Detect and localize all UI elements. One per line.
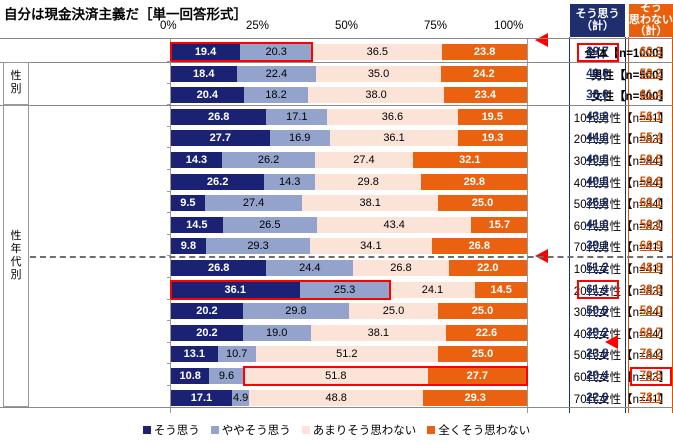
- bar-segment-2: 27.4: [205, 195, 303, 211]
- group-label-char: 別: [11, 269, 22, 282]
- row-tick: [167, 191, 171, 192]
- stacked-bar: 17.14.948.829.3: [171, 390, 527, 406]
- stacked-bar: 26.817.136.619.5: [171, 109, 527, 125]
- stacked-bar: 20.229.825.025.0: [171, 303, 527, 319]
- bar-segment-4: 22.6: [446, 325, 526, 341]
- agree-total-value: 40.8: [570, 66, 625, 82]
- bar-segment-2: 22.4: [237, 66, 317, 82]
- bar-segment-3: 38.1: [302, 195, 438, 211]
- row-tick: [167, 83, 171, 84]
- chart-row: 40代男性【n=84】26.214.329.829.840.559.6: [0, 174, 673, 190]
- bar-segment-3: 43.4: [317, 217, 472, 233]
- bar-segment-4: 26.8: [432, 238, 527, 254]
- row-tick: [167, 342, 171, 343]
- agree-total-value: 39.7: [570, 44, 625, 60]
- agree-total-value: 22.0: [570, 390, 625, 406]
- bar-segment-1: 19.4: [171, 44, 240, 60]
- stacked-bar: 18.422.435.024.2: [171, 66, 527, 82]
- page-title: 自分は現金決済主義だ［単一回答形式］: [4, 3, 247, 23]
- bar-segment-4: 32.1: [413, 152, 527, 168]
- row-separator: [0, 62, 673, 63]
- row-tick: [167, 320, 171, 321]
- disagree-total-value: 59.5: [629, 152, 673, 168]
- bar-segment-3: 36.5: [312, 44, 442, 60]
- bar-segment-2: 29.3: [206, 238, 310, 254]
- bar-segment-2: 17.1: [266, 109, 327, 125]
- bar-segment-4: 25.0: [438, 346, 527, 362]
- disagree-total-value: 60.3: [629, 44, 673, 60]
- agree-total-value: 20.4: [570, 368, 625, 384]
- chart-row: 70代女性【n=41】17.14.948.829.322.078.1: [0, 390, 673, 406]
- bar-segment-2: 24.4: [266, 260, 353, 276]
- chart-row: 全体【n=1000】19.420.336.523.839.760.3: [0, 44, 673, 60]
- agree-total-value: 36.9: [570, 195, 625, 211]
- legend-swatch-icon: [427, 426, 435, 434]
- agree-total-value-highlight: 39.7: [577, 43, 619, 62]
- bar-segment-1: 14.5: [171, 217, 223, 233]
- bar-segment-4: 24.2: [441, 66, 527, 82]
- bar-segment-4: 29.8: [421, 174, 527, 190]
- legend-label: ややそう思う: [222, 422, 291, 438]
- row-tick: [167, 385, 171, 386]
- agree-total-value: 44.6: [570, 130, 625, 146]
- chart-row: 70代男性【n=41】9.829.334.126.839.160.9: [0, 238, 673, 254]
- legend-item: 全くそう思わない: [427, 422, 530, 438]
- chart-row: 50代男性【n=84】9.527.438.125.036.963.1: [0, 195, 673, 211]
- chart-row: 20代男性【n=83】27.716.936.119.344.655.4: [0, 130, 673, 146]
- agree-total-value: 43.9: [570, 109, 625, 125]
- legend-item: あまりそう思わない: [302, 422, 417, 438]
- row-tick: [167, 299, 171, 300]
- stacked-bar: 19.420.336.523.8: [171, 44, 527, 60]
- disagree-total-value: 59.2: [629, 66, 673, 82]
- legend-item: そう思う: [143, 422, 200, 438]
- chart-row: 男性【n=500】18.422.435.024.240.859.2: [0, 66, 673, 82]
- bar-segment-3: 24.1: [390, 282, 476, 298]
- group-label-char: 性: [11, 70, 22, 83]
- bar-segment-1: 18.4: [171, 66, 237, 82]
- legend-swatch-icon: [211, 426, 219, 434]
- group-box-gender-age: 性年代別: [3, 105, 29, 407]
- bar-segment-2: 25.3: [300, 282, 390, 298]
- agree-total-value: 50.0: [570, 303, 625, 319]
- row-separator: [0, 105, 673, 106]
- disagree-total-value: 56.1: [629, 109, 673, 125]
- stacked-bar: 26.214.329.829.8: [171, 174, 527, 190]
- bar-segment-1: 17.1: [171, 390, 232, 406]
- bar-segment-4: 29.3: [423, 390, 527, 406]
- bar-segment-1: 9.5: [171, 195, 205, 211]
- bar-segment-2: 4.9: [232, 390, 249, 406]
- row-tick: [167, 147, 171, 148]
- disagree-total-value: 48.8: [629, 260, 673, 276]
- legend-label: 全くそう思わない: [438, 422, 530, 438]
- column-header-agree: そう思う （計）: [570, 4, 625, 37]
- axis-tick-0: 0%: [160, 20, 177, 32]
- bar-segment-3: 38.0: [308, 87, 443, 103]
- axis-tick-100: 100%: [494, 20, 523, 32]
- column-header-disagree: そう 思わない （計）: [629, 4, 673, 37]
- chart-row: 10代男性【n=41】26.817.136.619.543.956.1: [0, 109, 673, 125]
- bar-segment-4: 15.7: [471, 217, 527, 233]
- bar-segment-4: 19.3: [458, 130, 527, 146]
- bar-segment-1: 36.1: [171, 282, 300, 298]
- chart-row: 10代女性【n=41】26.824.426.822.051.248.8: [0, 260, 673, 276]
- agree-total-value: 40.5: [570, 174, 625, 190]
- agree-total-value: 61.4: [570, 282, 625, 298]
- bar-segment-4: 23.8: [442, 44, 527, 60]
- disagree-total-value: 60.7: [629, 325, 673, 341]
- group-label-char: 別: [11, 83, 22, 96]
- bar-segment-2: 29.8: [243, 303, 349, 319]
- chart-row: 40代女性【n=84】20.219.038.122.639.260.7: [0, 325, 673, 341]
- bar-segment-3: 51.2: [256, 346, 438, 362]
- bar-segment-3: 25.0: [349, 303, 438, 319]
- bar-segment-4: 27.7: [428, 368, 527, 384]
- bar-segment-1: 20.4: [171, 87, 244, 103]
- chart-page: 自分は現金決済主義だ［単一回答形式］ 0%25%50%75%100% そう思う …: [0, 0, 673, 443]
- group-label-char: 性: [11, 230, 22, 243]
- stacked-bar: 20.418.238.023.4: [171, 87, 527, 103]
- disagree-total-value: 38.6: [629, 282, 673, 298]
- stacked-bar: 27.716.936.119.3: [171, 130, 527, 146]
- disagree-total-value: 59.6: [629, 174, 673, 190]
- group-label-char: 代: [11, 256, 22, 269]
- chart-row: 50代女性【n=84】13.110.751.225.023.876.2: [0, 346, 673, 362]
- agree-total-value: 39.1: [570, 238, 625, 254]
- legend-label: そう思う: [154, 422, 200, 438]
- disagree-total-value: 76.2: [629, 346, 673, 362]
- stacked-bar: 26.824.426.822.0: [171, 260, 527, 276]
- bar-segment-1: 20.2: [171, 303, 243, 319]
- row-separator: [0, 407, 673, 408]
- bar-segment-2: 9.6: [209, 368, 243, 384]
- disagree-total-value: 50.0: [629, 303, 673, 319]
- row-separator-top: [0, 38, 673, 39]
- group-label-char: 年: [11, 243, 22, 256]
- stacked-bar: 20.219.038.122.6: [171, 325, 527, 341]
- bar-segment-2: 16.9: [270, 130, 330, 146]
- bar-segment-4: 19.5: [458, 109, 527, 125]
- bar-segment-2: 26.2: [222, 152, 315, 168]
- disagree-total-value: 79.5: [629, 368, 673, 384]
- bar-segment-2: 10.7: [218, 346, 256, 362]
- column-header-disagree-line3: （計）: [629, 26, 673, 38]
- stacked-bar: 14.526.543.415.7: [171, 217, 527, 233]
- chart-row: 女性【n=500】20.418.238.023.438.661.4: [0, 87, 673, 103]
- bar-segment-3: 48.8: [249, 390, 423, 406]
- stacked-bar: 13.110.751.225.0: [171, 346, 527, 362]
- bar-segment-4: 25.0: [438, 195, 527, 211]
- row-tick: [167, 363, 171, 364]
- bar-segment-4: 14.5: [475, 282, 527, 298]
- chart-row: 60代女性【n=83】10.89.651.827.720.479.5: [0, 368, 673, 384]
- bar-segment-3: 36.6: [327, 109, 457, 125]
- bar-segment-4: 22.0: [449, 260, 527, 276]
- bar-segment-2: 14.3: [264, 174, 315, 190]
- pointer-arrow-icon: [605, 335, 618, 349]
- row-tick: [167, 169, 171, 170]
- bar-segment-3: 34.1: [310, 238, 431, 254]
- legend: そう思うややそう思うあまりそう思わない全くそう思わない: [0, 422, 673, 438]
- bar-segment-1: 26.8: [171, 109, 266, 125]
- disagree-total-value: 63.1: [629, 195, 673, 211]
- agree-total-value: 51.2: [570, 260, 625, 276]
- bar-segment-3: 35.0: [316, 66, 441, 82]
- bar-segment-4: 25.0: [438, 303, 527, 319]
- bar-segment-1: 13.1: [171, 346, 218, 362]
- axis-tick-50: 50%: [335, 20, 358, 32]
- legend-item: ややそう思う: [211, 422, 291, 438]
- bar-segment-3: 38.1: [311, 325, 447, 341]
- disagree-total-value: 61.4: [629, 87, 673, 103]
- agree-total-value: 40.5: [570, 152, 625, 168]
- bar-segment-3: 26.8: [353, 260, 448, 276]
- chart-row: 60代男性【n=83】14.526.543.415.741.059.1: [0, 217, 673, 233]
- bar-segment-1: 27.7: [171, 130, 270, 146]
- bar-segment-1: 10.8: [171, 368, 209, 384]
- column-header-agree-line2: （計）: [576, 21, 620, 33]
- row-tick: [167, 126, 171, 127]
- stacked-bar: 10.89.651.827.7: [171, 368, 527, 384]
- bar-segment-1: 20.2: [171, 325, 243, 341]
- stacked-bar: 36.125.324.114.5: [171, 282, 527, 298]
- disagree-total-value: 78.1: [629, 390, 673, 406]
- bar-segment-4: 23.4: [444, 87, 527, 103]
- bar-segment-2: 26.5: [223, 217, 317, 233]
- disagree-total-value: 60.9: [629, 238, 673, 254]
- agree-total-value: 41.0: [570, 217, 625, 233]
- bar-segment-2: 20.3: [240, 44, 312, 60]
- disagree-total-value: 59.1: [629, 217, 673, 233]
- bar-segment-3: 27.4: [315, 152, 413, 168]
- bar-segment-1: 26.2: [171, 174, 264, 190]
- row-tick: [167, 277, 171, 278]
- stacked-bar: 9.829.334.126.8: [171, 238, 527, 254]
- chart-row: 30代女性【n=84】20.229.825.025.050.050.0: [0, 303, 673, 319]
- legend-swatch-icon: [302, 426, 310, 434]
- bar-segment-3: 36.1: [330, 130, 459, 146]
- bar-segment-1: 26.8: [171, 260, 266, 276]
- chart-row: 20代女性【n=83】36.125.324.114.561.438.6: [0, 282, 673, 298]
- agree-total-value: 38.6: [570, 87, 625, 103]
- group-box-gender: 性別: [3, 62, 29, 105]
- chart-row: 30代男性【n=84】14.326.227.432.140.559.5: [0, 152, 673, 168]
- legend-label: あまりそう思わない: [313, 422, 417, 438]
- pointer-arrow-icon: [535, 33, 548, 47]
- bar-segment-3: 29.8: [315, 174, 421, 190]
- bar-segment-2: 19.0: [243, 325, 311, 341]
- agree-total-value-highlight: 61.4: [577, 280, 619, 299]
- bar-segment-3: 51.8: [244, 368, 428, 384]
- column-header-agree-line1: そう思う: [576, 9, 620, 21]
- legend-swatch-icon: [143, 426, 151, 434]
- axis-tick-75: 75%: [424, 20, 447, 32]
- gender-group-divider: [30, 256, 673, 258]
- row-tick: [167, 212, 171, 213]
- bar-segment-1: 9.8: [171, 238, 206, 254]
- bar-segment-1: 14.3: [171, 152, 222, 168]
- bar-segment-2: 18.2: [244, 87, 309, 103]
- axis-tick-25: 25%: [246, 20, 269, 32]
- disagree-total-value-highlight: 79.5: [630, 367, 672, 386]
- stacked-bar: 9.527.438.125.0: [171, 195, 527, 211]
- disagree-total-value: 55.4: [629, 130, 673, 146]
- stacked-bar: 14.326.227.432.1: [171, 152, 527, 168]
- row-tick: [167, 234, 171, 235]
